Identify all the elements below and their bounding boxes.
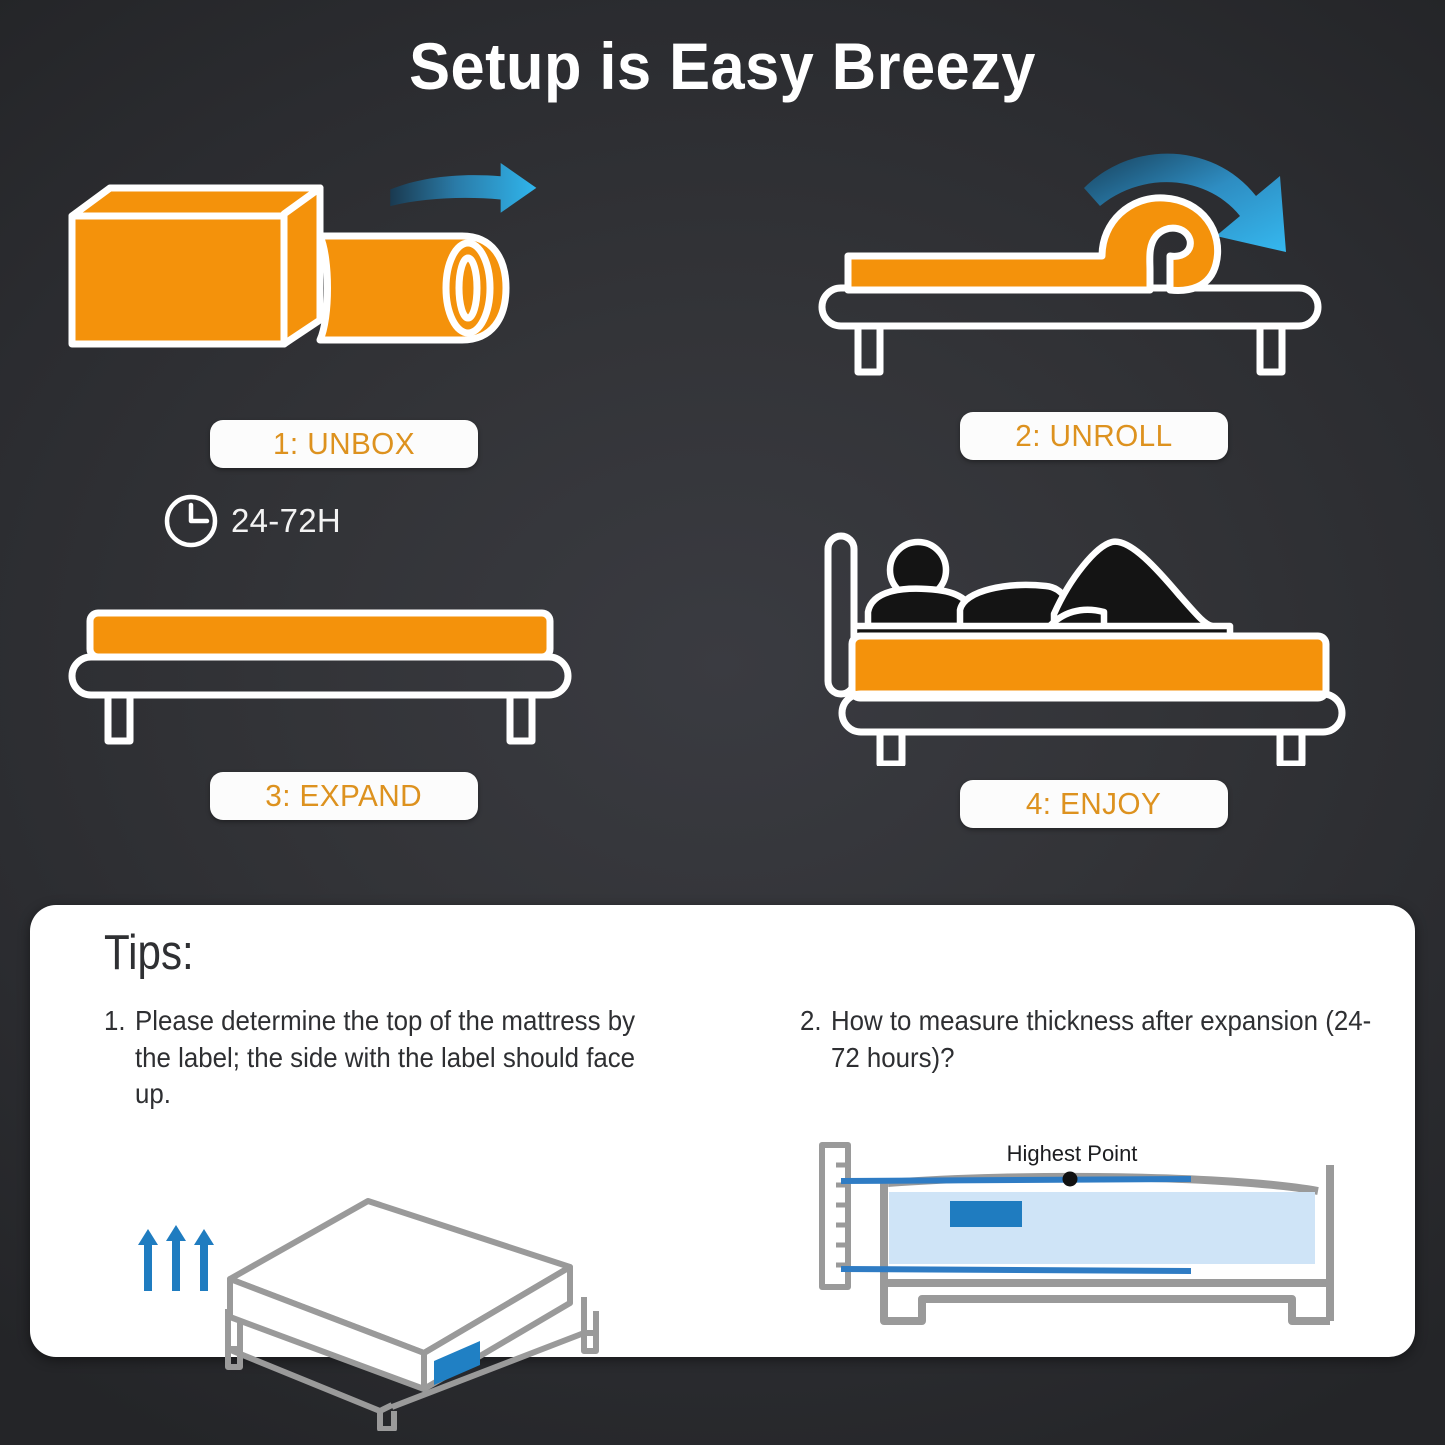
tips-panel: Tips: 1. Please determine the top of the… [30, 905, 1415, 1357]
unbox-illustration [62, 148, 622, 406]
step-unbox-label[interactable]: 1: UNBOX [210, 420, 478, 468]
bed-frame-icon [822, 288, 1318, 372]
tip-2-text-row: 2. How to measure thickness after expans… [800, 1003, 1383, 1076]
step-expand: 24-72H 3: EXPAND [62, 500, 622, 840]
step-enjoy-label[interactable]: 4: ENJOY [960, 780, 1228, 828]
page-title: Setup is Easy Breezy [51, 28, 1395, 104]
flat-mattress-icon [90, 613, 550, 657]
infographic-page: Setup is Easy Breezy [0, 0, 1445, 1445]
step-unbox: 1: UNBOX [62, 148, 622, 488]
unroll-illustration [812, 140, 1372, 398]
bed-frame-icon [72, 657, 568, 741]
three-up-arrows-icon [138, 1225, 214, 1291]
enjoy-illustration [812, 508, 1372, 766]
person-sleeping-icon [854, 542, 1230, 642]
tip-1-number: 1. [104, 1003, 135, 1113]
expand-duration-text: 24-72H [231, 502, 341, 540]
tip-1-text-row: 1. Please determine the top of the mattr… [104, 1003, 668, 1113]
highest-point-dot-icon [1063, 1172, 1078, 1187]
tip-1-illustration [104, 1173, 704, 1431]
highest-point-annotation: Highest Point [1007, 1141, 1138, 1166]
tip-2-number: 2. [800, 1003, 831, 1076]
mattress-label-tag-icon [950, 1201, 1022, 1227]
tip-2-body: How to measure thickness after expansion… [831, 1003, 1383, 1076]
step-unroll-label[interactable]: 2: UNROLL [960, 412, 1228, 460]
step-enjoy: 4: ENJOY [812, 508, 1372, 848]
tip-item-1: 1. Please determine the top of the mattr… [104, 1003, 704, 1113]
straight-right-arrow-icon [390, 163, 536, 213]
tip-item-2: 2. How to measure thickness after expans… [800, 1003, 1420, 1076]
mattress-icon [852, 636, 1326, 698]
step-unroll: 2: UNROLL [812, 140, 1372, 480]
tip-2-illustration: Highest Point [800, 1121, 1420, 1351]
box-with-rolled-mattress-icon [72, 188, 506, 344]
unrolling-mattress-icon [848, 198, 1218, 291]
tip-1-body: Please determine the top of the mattress… [135, 1003, 668, 1113]
tips-heading: Tips: [104, 925, 194, 981]
bed-frame-icon [842, 694, 1342, 764]
step-expand-label[interactable]: 3: EXPAND [210, 772, 478, 820]
expand-illustration [62, 538, 622, 796]
ruler-icon [822, 1145, 848, 1287]
